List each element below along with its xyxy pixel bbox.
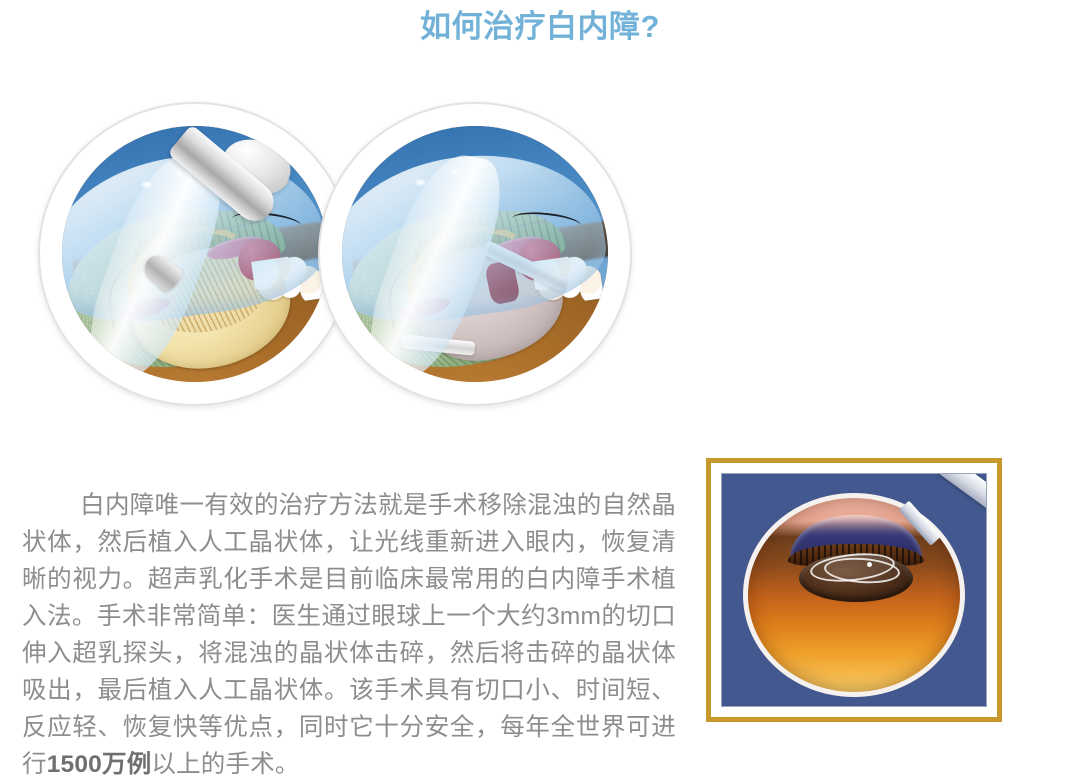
cornea-glint-2: [451, 170, 457, 174]
paragraph-segment-1: 白内障唯一有效的治疗方法就是手术移除混浊的自然晶状体，然后植入人工晶状体，让光线…: [22, 492, 676, 778]
iol-implantation-photo: [706, 458, 1002, 722]
eyeball-globe: [743, 493, 965, 697]
iol-glint: [867, 562, 872, 567]
phacoemulsification-step-illustration: [38, 102, 352, 406]
page-title: 如何治疗白内障?: [0, 9, 1080, 45]
illustration-pair: [30, 92, 670, 412]
eye-cross-section-left: [62, 126, 328, 382]
photo-inner-mat: [721, 473, 987, 707]
highlight-number: 1500万例: [47, 751, 152, 778]
article-paragraph: 白内障唯一有效的治疗方法就是手术移除混浊的自然晶状体，然后植入人工晶状体，让光线…: [22, 487, 676, 783]
paragraph-segment-3: 以上的手术。: [151, 751, 299, 778]
lens-aspiration-step-illustration: [318, 102, 632, 406]
eye-cross-section-right: [342, 126, 608, 382]
